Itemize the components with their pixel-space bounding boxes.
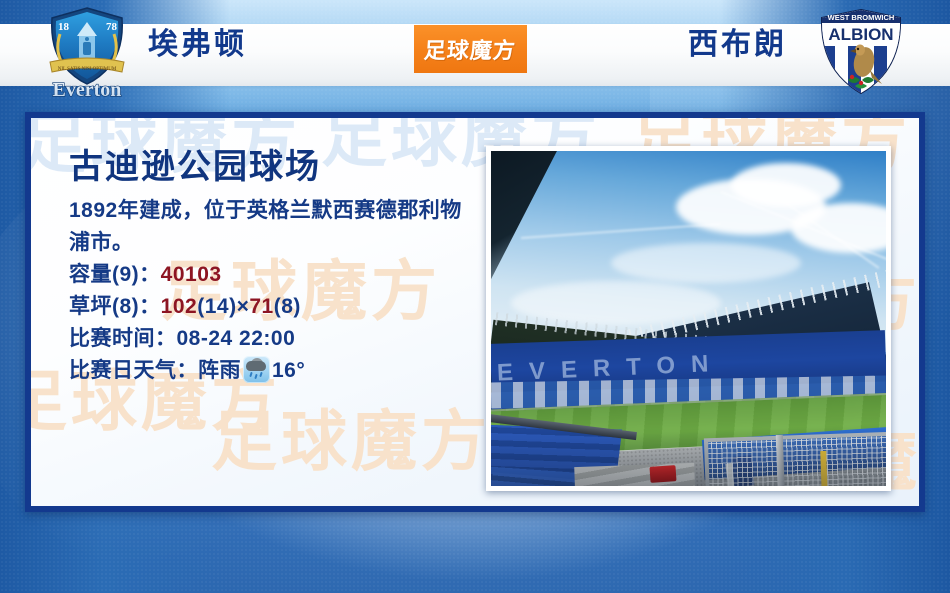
- photo-cloud-4: [611, 243, 801, 283]
- pitch-length-rank: (14): [197, 295, 236, 318]
- weather-condition: 阵雨: [198, 359, 241, 382]
- stadium-info-card: 足球魔方 足球魔方 足球魔方 足球魔方 足球魔方 足球魔方 足球魔方 足球魔方 …: [25, 112, 925, 512]
- rain-drop-3: [259, 371, 262, 376]
- weather-temperature: 16°: [272, 359, 305, 382]
- match-time-value: 08-24 22:00: [177, 327, 296, 350]
- svg-text:WEST BROMWICH: WEST BROMWICH: [828, 13, 895, 22]
- pitch-length: 102: [161, 295, 198, 318]
- svg-text:Everton: Everton: [53, 79, 122, 100]
- photo-bottom-shadow: [491, 428, 886, 486]
- stadium-title: 古迪逊公园球场: [69, 148, 489, 187]
- card-inner: 足球魔方 足球魔方 足球魔方 足球魔方 足球魔方 足球魔方 足球魔方 足球魔方 …: [31, 118, 919, 506]
- rain-drop-2: [254, 373, 257, 378]
- rain-drop-1: [249, 371, 252, 376]
- pitch-label: 草坪(8)：: [69, 295, 161, 318]
- stadium-description: 1892年建成，位于英格兰默西赛德郡利物浦市。: [69, 195, 469, 259]
- svg-text:18: 18: [58, 21, 70, 33]
- stadium-info-text: 古迪逊公园球场 1892年建成，位于英格兰默西赛德郡利物浦市。 容量(9)：40…: [69, 148, 489, 387]
- capacity-label: 容量(9)：: [69, 263, 161, 286]
- cloud-body-shape: [246, 361, 266, 371]
- photo-cloud-2: [731, 163, 841, 207]
- svg-text:ALBION: ALBION: [828, 25, 893, 44]
- screenshot-root: 18 78 NIL SATIS NISI OPTIMUM Everton 埃弗顿…: [0, 0, 950, 593]
- svg-text:NIL SATIS NISI OPTIMUM: NIL SATIS NISI OPTIMUM: [58, 67, 117, 72]
- svg-text:78: 78: [106, 21, 118, 33]
- brand-logo[interactable]: 足球魔方: [414, 25, 527, 73]
- capacity-row: 容量(9)：40103: [69, 259, 489, 291]
- away-team-name: 西布朗: [688, 30, 787, 60]
- west-bromwich-albion-crest: WEST BROMWICH ALBION: [812, 4, 910, 100]
- pitch-row: 草坪(8)：102(14)×71(8): [69, 291, 489, 323]
- pitch-width: 71: [249, 295, 273, 318]
- home-team-name: 埃弗顿: [148, 30, 247, 60]
- everton-crest: 18 78 NIL SATIS NISI OPTIMUM Everton: [38, 4, 136, 100]
- stadium-photo-frame[interactable]: EVERTON: [486, 146, 891, 491]
- weather-label: 比赛日天气：: [69, 359, 198, 382]
- goodison-park-stadium-photo: EVERTON: [491, 151, 886, 486]
- brand-logo-label: 足球魔方: [423, 33, 517, 65]
- shower-rain-icon: [243, 356, 270, 383]
- match-time-label: 比赛时间：: [69, 327, 177, 350]
- watermark-6: 足球魔方: [211, 408, 491, 474]
- weather-row: 比赛日天气：阵雨 16°: [69, 355, 489, 387]
- capacity-value: 40103: [161, 263, 222, 286]
- pitch-times-symbol: ×: [237, 295, 250, 318]
- pitch-width-rank: (8): [274, 295, 301, 318]
- match-time-row: 比赛时间：08-24 22:00: [69, 323, 489, 355]
